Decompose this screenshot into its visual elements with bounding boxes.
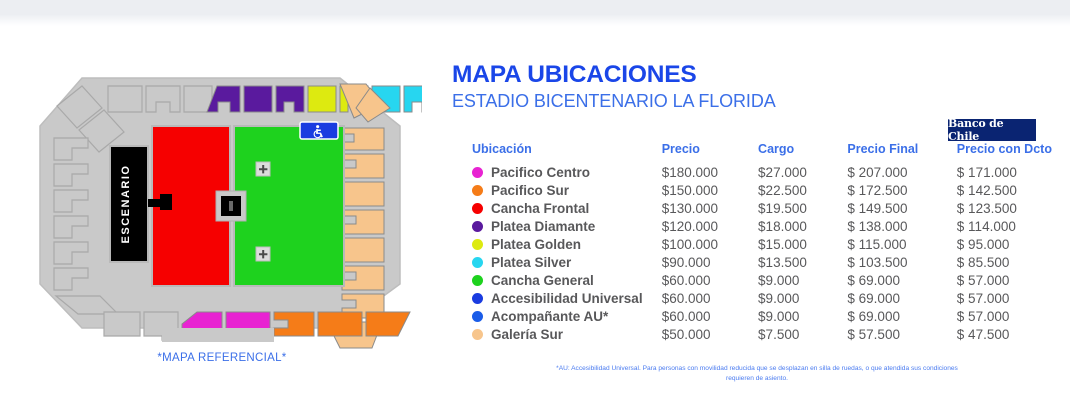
cell-precio-con-dcto: $ 114.000 (957, 217, 1052, 235)
stadium-map-svg[interactable]: ESCENARIO (22, 56, 422, 356)
stage-walkway-end (160, 194, 172, 210)
table-row[interactable]: Platea Silver$90.000$13.500$ 103.500$ 85… (472, 253, 1052, 271)
cell-precio: $150.000 (662, 181, 758, 199)
banco-de-chile-badge: Banco de Chile (948, 119, 1036, 141)
plus-icon (256, 247, 270, 261)
cell-cargo: $18.000 (758, 217, 847, 235)
legend-color-dot (472, 185, 483, 196)
cell-precio-final: $ 207.000 (847, 163, 956, 181)
ubicacion-label: Platea Diamante (491, 219, 595, 234)
ubicacion-label: Cancha General (491, 273, 594, 288)
cell-precio-final: $ 57.500 (847, 325, 956, 343)
column-header-cargo: Cargo (758, 142, 847, 163)
stadium-base (162, 328, 274, 342)
table-row[interactable]: Accesibilidad Universal$60.000$9.000$ 69… (472, 289, 1052, 307)
table-row[interactable]: Cancha General$60.000$9.000$ 69.000$ 57.… (472, 271, 1052, 289)
table-row[interactable]: Cancha Frontal$130.000$19.500$ 149.500$ … (472, 199, 1052, 217)
legend-color-dot (472, 257, 483, 268)
cell-ubicacion: Cancha Frontal (472, 199, 662, 217)
cell-precio-con-dcto: $ 95.000 (957, 235, 1052, 253)
cell-cargo: $13.500 (758, 253, 847, 271)
cell-precio-con-dcto: $ 85.500 (957, 253, 1052, 271)
page-title: MAPA UBICACIONES (452, 62, 1052, 88)
ubicacion-label: Galería Sur (491, 327, 563, 342)
map-caption: *MAPA REFERENCIAL* (22, 352, 422, 364)
cell-ubicacion: Platea Diamante (472, 217, 662, 235)
cell-precio: $90.000 (662, 253, 758, 271)
block-cancha-general[interactable] (234, 126, 344, 286)
legend-color-dot (472, 203, 483, 214)
table-row[interactable]: Galería Sur$50.000$7.500$ 57.500$ 47.500 (472, 325, 1052, 343)
cell-precio: $120.000 (662, 217, 758, 235)
legend-color-dot (472, 221, 483, 232)
cell-cargo: $9.000 (758, 307, 847, 325)
stage-label: ESCENARIO (120, 165, 132, 244)
cell-cargo: $27.000 (758, 163, 847, 181)
legend-color-dot (472, 311, 483, 322)
info-panel: MAPA UBICACIONES ESTADIO BICENTENARIO LA… (452, 62, 1052, 111)
cell-ubicacion: Pacifico Sur (472, 181, 662, 199)
table-row[interactable]: Platea Diamante$120.000$18.000$ 138.000$… (472, 217, 1052, 235)
table-header-row: Ubicación Precio Cargo Precio Final Prec… (472, 142, 1052, 163)
cell-precio: $60.000 (662, 307, 758, 325)
cell-precio: $130.000 (662, 199, 758, 217)
column-header-precio: Precio (662, 142, 758, 163)
cell-precio: $100.000 (662, 235, 758, 253)
cell-precio-final: $ 115.000 (847, 235, 956, 253)
legend-color-dot (472, 293, 483, 304)
cell-precio-final: $ 69.000 (847, 289, 956, 307)
cell-ubicacion: Galería Sur (472, 325, 662, 343)
table-row[interactable]: Pacifico Centro$180.000$27.000$ 207.000$… (472, 163, 1052, 181)
cell-precio-con-dcto: $ 57.000 (957, 307, 1052, 325)
column-header-precio-con-dcto: Precio con Dcto (957, 142, 1052, 163)
cell-ubicacion: Acompañante AU* (472, 307, 662, 325)
price-table-body: Pacifico Centro$180.000$27.000$ 207.000$… (472, 163, 1052, 343)
cell-ubicacion: Platea Silver (472, 253, 662, 271)
plus-icon (256, 162, 270, 176)
cell-cargo: $15.000 (758, 235, 847, 253)
cell-precio-con-dcto: $ 47.500 (957, 325, 1052, 343)
ubicacion-label: Platea Golden (491, 237, 581, 252)
cell-precio: $180.000 (662, 163, 758, 181)
cell-precio-final: $ 69.000 (847, 307, 956, 325)
ubicacion-label: Acompañante AU* (491, 309, 608, 324)
table-row[interactable]: Acompañante AU*$60.000$9.000$ 69.000$ 57… (472, 307, 1052, 325)
top-band (0, 0, 1070, 26)
wheelchair-icon[interactable] (300, 122, 338, 139)
cell-precio-con-dcto: $ 171.000 (957, 163, 1052, 181)
ubicacion-label: Platea Silver (491, 255, 571, 270)
ubicacion-label: Pacifico Sur (491, 183, 569, 198)
legend-color-dot (472, 329, 483, 340)
legend-color-dot (472, 239, 483, 250)
block-pacifico-sur[interactable] (274, 312, 410, 336)
cell-precio-con-dcto: $ 142.500 (957, 181, 1052, 199)
cell-ubicacion: Cancha General (472, 271, 662, 289)
page-subtitle: ESTADIO BICENTENARIO LA FLORIDA (452, 91, 1052, 112)
legend-color-dot (472, 275, 483, 286)
cell-ubicacion: Platea Golden (472, 235, 662, 253)
cell-precio-final: $ 172.500 (847, 181, 956, 199)
cell-precio: $60.000 (662, 289, 758, 307)
cell-precio-con-dcto: $ 57.000 (957, 289, 1052, 307)
ubicacion-label: Cancha Frontal (491, 201, 589, 216)
column-header-ubicacion: Ubicación (472, 142, 662, 163)
legend-color-dot (472, 167, 483, 178)
cell-cargo: $7.500 (758, 325, 847, 343)
cell-cargo: $19.500 (758, 199, 847, 217)
ubicacion-label: Pacifico Centro (491, 165, 590, 180)
cell-precio-final: $ 138.000 (847, 217, 956, 235)
cell-ubicacion: Accesibilidad Universal (472, 289, 662, 307)
cell-precio: $50.000 (662, 325, 758, 343)
cell-precio-con-dcto: $ 57.000 (957, 271, 1052, 289)
ubicacion-label: Accesibilidad Universal (491, 291, 643, 306)
cell-cargo: $9.000 (758, 289, 847, 307)
control-booth-inner-mark (229, 201, 233, 211)
cell-cargo: $9.000 (758, 271, 847, 289)
cell-precio-final: $ 69.000 (847, 271, 956, 289)
cell-precio-con-dcto: $ 123.500 (957, 199, 1052, 217)
cell-precio-final: $ 149.500 (847, 199, 956, 217)
table-row[interactable]: Pacifico Sur$150.000$22.500$ 172.500$ 14… (472, 181, 1052, 199)
stadium-map-panel: ESCENARIO *MAPA REFERENCIAL* (22, 56, 422, 376)
cell-precio-final: $ 103.500 (847, 253, 956, 271)
price-table: Ubicación Precio Cargo Precio Final Prec… (472, 142, 1052, 343)
table-row[interactable]: Platea Golden$100.000$15.000$ 115.000$ 9… (472, 235, 1052, 253)
cell-precio: $60.000 (662, 271, 758, 289)
cell-cargo: $22.500 (758, 181, 847, 199)
cell-ubicacion: Pacifico Centro (472, 163, 662, 181)
footnote: *AU: Accesibilidad Universal. Para perso… (547, 364, 967, 383)
column-header-precio-final: Precio Final (847, 142, 956, 163)
